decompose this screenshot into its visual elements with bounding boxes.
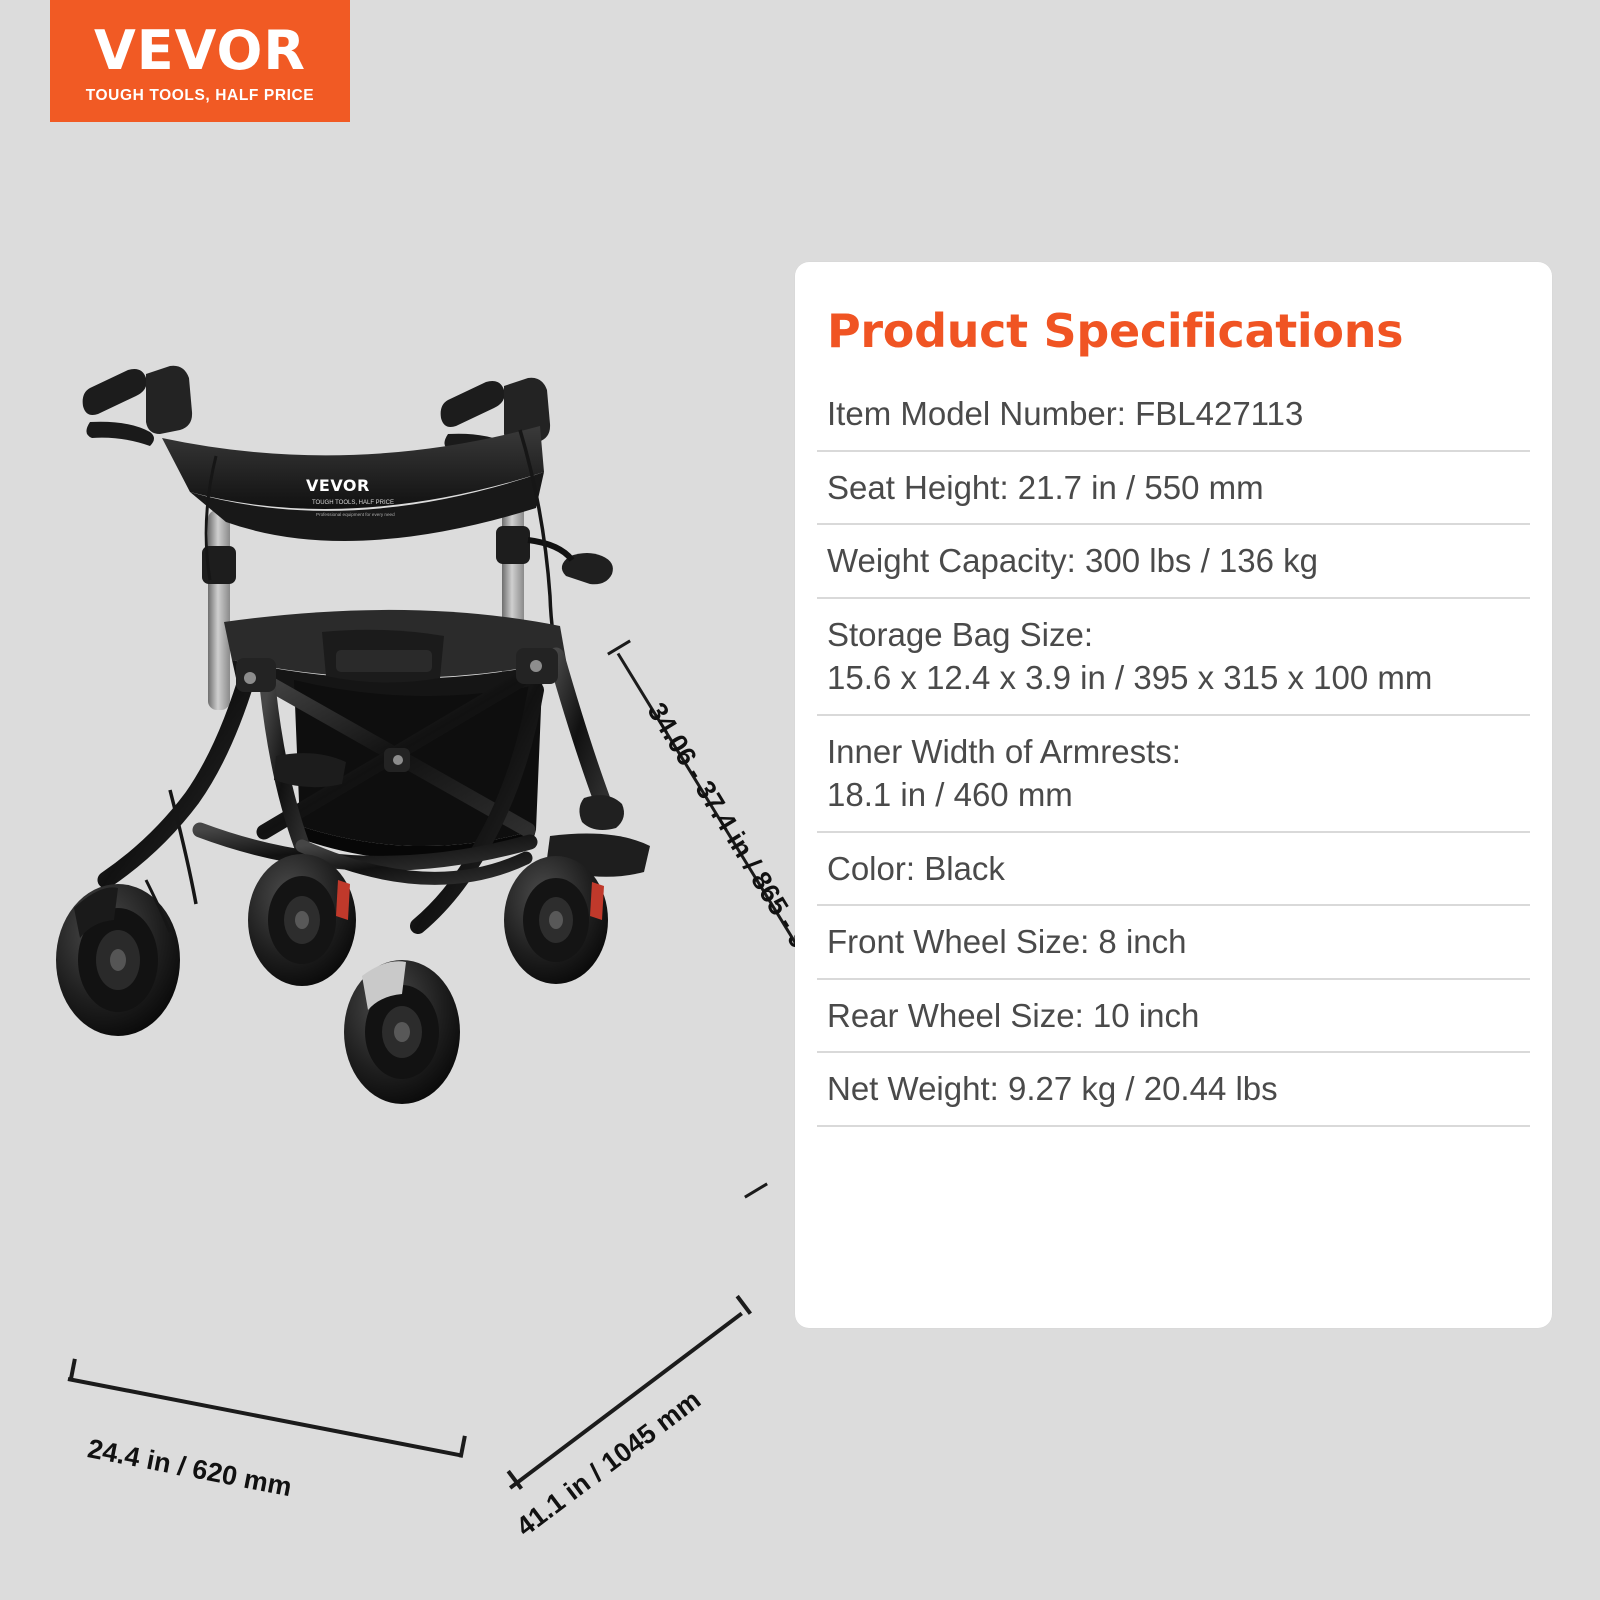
spec-row-front-wheel-size: Front Wheel Size: 8 inch bbox=[817, 906, 1530, 980]
width-dimension-label: 24.4 in / 620 mm bbox=[85, 1433, 294, 1503]
left-handlebar bbox=[83, 366, 192, 446]
spec-row-inner-width-of-armrests: Inner Width of Armrests: 18.1 in / 460 m… bbox=[817, 716, 1530, 833]
width-dimension-cap-right bbox=[459, 1436, 467, 1458]
product-image-area: VEVOR TOUGH TOOLS, HALF PRICE Profession… bbox=[20, 300, 790, 1300]
spec-text-secondary: 18.1 in / 460 mm bbox=[827, 773, 1530, 817]
spec-text: Seat Height: 21.7 in / 550 mm bbox=[827, 469, 1264, 506]
brand-tagline: TOUGH TOOLS, HALF PRICE bbox=[86, 87, 315, 105]
svg-text:Professional equipment for eve: Professional equipment for every need bbox=[316, 512, 395, 517]
backrest-brand-text: VEVOR bbox=[306, 476, 370, 495]
wheel-front-right bbox=[248, 854, 356, 986]
spec-text: Net Weight: 9.27 kg / 20.44 lbs bbox=[827, 1070, 1278, 1107]
rollator-walker-illustration: VEVOR TOUGH TOOLS, HALF PRICE Profession… bbox=[50, 360, 670, 1120]
spec-text-secondary: 15.6 x 12.4 x 3.9 in / 395 x 315 x 100 m… bbox=[827, 656, 1530, 700]
spec-text: Storage Bag Size: bbox=[827, 616, 1093, 653]
spec-row-net-weight: Net Weight: 9.27 kg / 20.44 lbs bbox=[817, 1053, 1530, 1127]
spec-row-item-model-number: Item Model Number: FBL427113 bbox=[817, 388, 1530, 452]
depth-dimension-cap-right bbox=[736, 1295, 752, 1315]
page-title: Product Specifications bbox=[817, 304, 1530, 358]
spec-text: Rear Wheel Size: 10 inch bbox=[827, 997, 1199, 1034]
spec-text: Weight Capacity: 300 lbs / 136 kg bbox=[827, 542, 1318, 579]
height-dimension-cap-bottom bbox=[744, 1183, 768, 1199]
spec-row-color: Color: Black bbox=[817, 833, 1530, 907]
vevor-brand-logo: VEVOR TOUGH TOOLS, HALF PRICE bbox=[50, 0, 350, 122]
wheel-rear-left bbox=[344, 960, 460, 1104]
spec-text: Front Wheel Size: 8 inch bbox=[827, 923, 1187, 960]
spec-row-storage-bag-size: Storage Bag Size: 15.6 x 12.4 x 3.9 in /… bbox=[817, 599, 1530, 716]
spec-row-seat-height: Seat Height: 21.7 in / 550 mm bbox=[817, 452, 1530, 526]
spec-row-weight-capacity: Weight Capacity: 300 lbs / 136 kg bbox=[817, 525, 1530, 599]
spec-text: Inner Width of Armrests: bbox=[827, 733, 1181, 770]
spec-text: Item Model Number: FBL427113 bbox=[827, 395, 1303, 432]
spec-row-rear-wheel-size: Rear Wheel Size: 10 inch bbox=[817, 980, 1530, 1054]
wheel-rear-right bbox=[504, 856, 608, 984]
product-specifications-panel: Product Specifications Item Model Number… bbox=[795, 262, 1552, 1328]
wheel-front-left bbox=[56, 884, 180, 1036]
brand-wordmark: VEVOR bbox=[94, 24, 306, 78]
spec-text: Color: Black bbox=[827, 850, 1005, 887]
spec-list: Item Model Number: FBL427113 Seat Height… bbox=[817, 388, 1530, 1127]
svg-text:TOUGH TOOLS, HALF PRICE: TOUGH TOOLS, HALF PRICE bbox=[312, 500, 394, 506]
left-footrest bbox=[274, 753, 346, 787]
